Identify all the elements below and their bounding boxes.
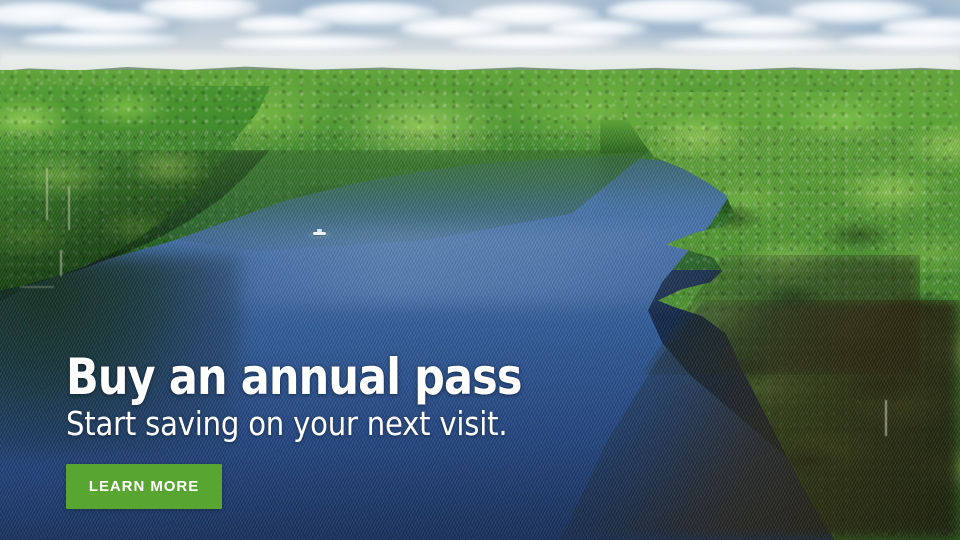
learn-more-button[interactable]: LEARN MORE <box>66 464 222 509</box>
fallen-log <box>20 286 54 288</box>
tree-trunk <box>60 250 62 276</box>
cloud <box>700 16 820 36</box>
banner-subheadline: Start saving on your next visit. <box>66 406 615 442</box>
boat-cabin <box>317 229 322 232</box>
tree-trunk <box>68 186 70 230</box>
tree-trunk <box>885 400 887 436</box>
sky <box>0 0 960 78</box>
banner-headline: Buy an annual pass <box>66 352 601 402</box>
promo-text-overlay: Buy an annual pass Start saving on your … <box>66 352 626 509</box>
cloud <box>20 32 180 48</box>
boat-hull <box>313 232 326 235</box>
hero-banner: Buy an annual pass Start saving on your … <box>0 0 960 540</box>
boat <box>313 229 326 236</box>
tree-trunk <box>46 168 48 220</box>
